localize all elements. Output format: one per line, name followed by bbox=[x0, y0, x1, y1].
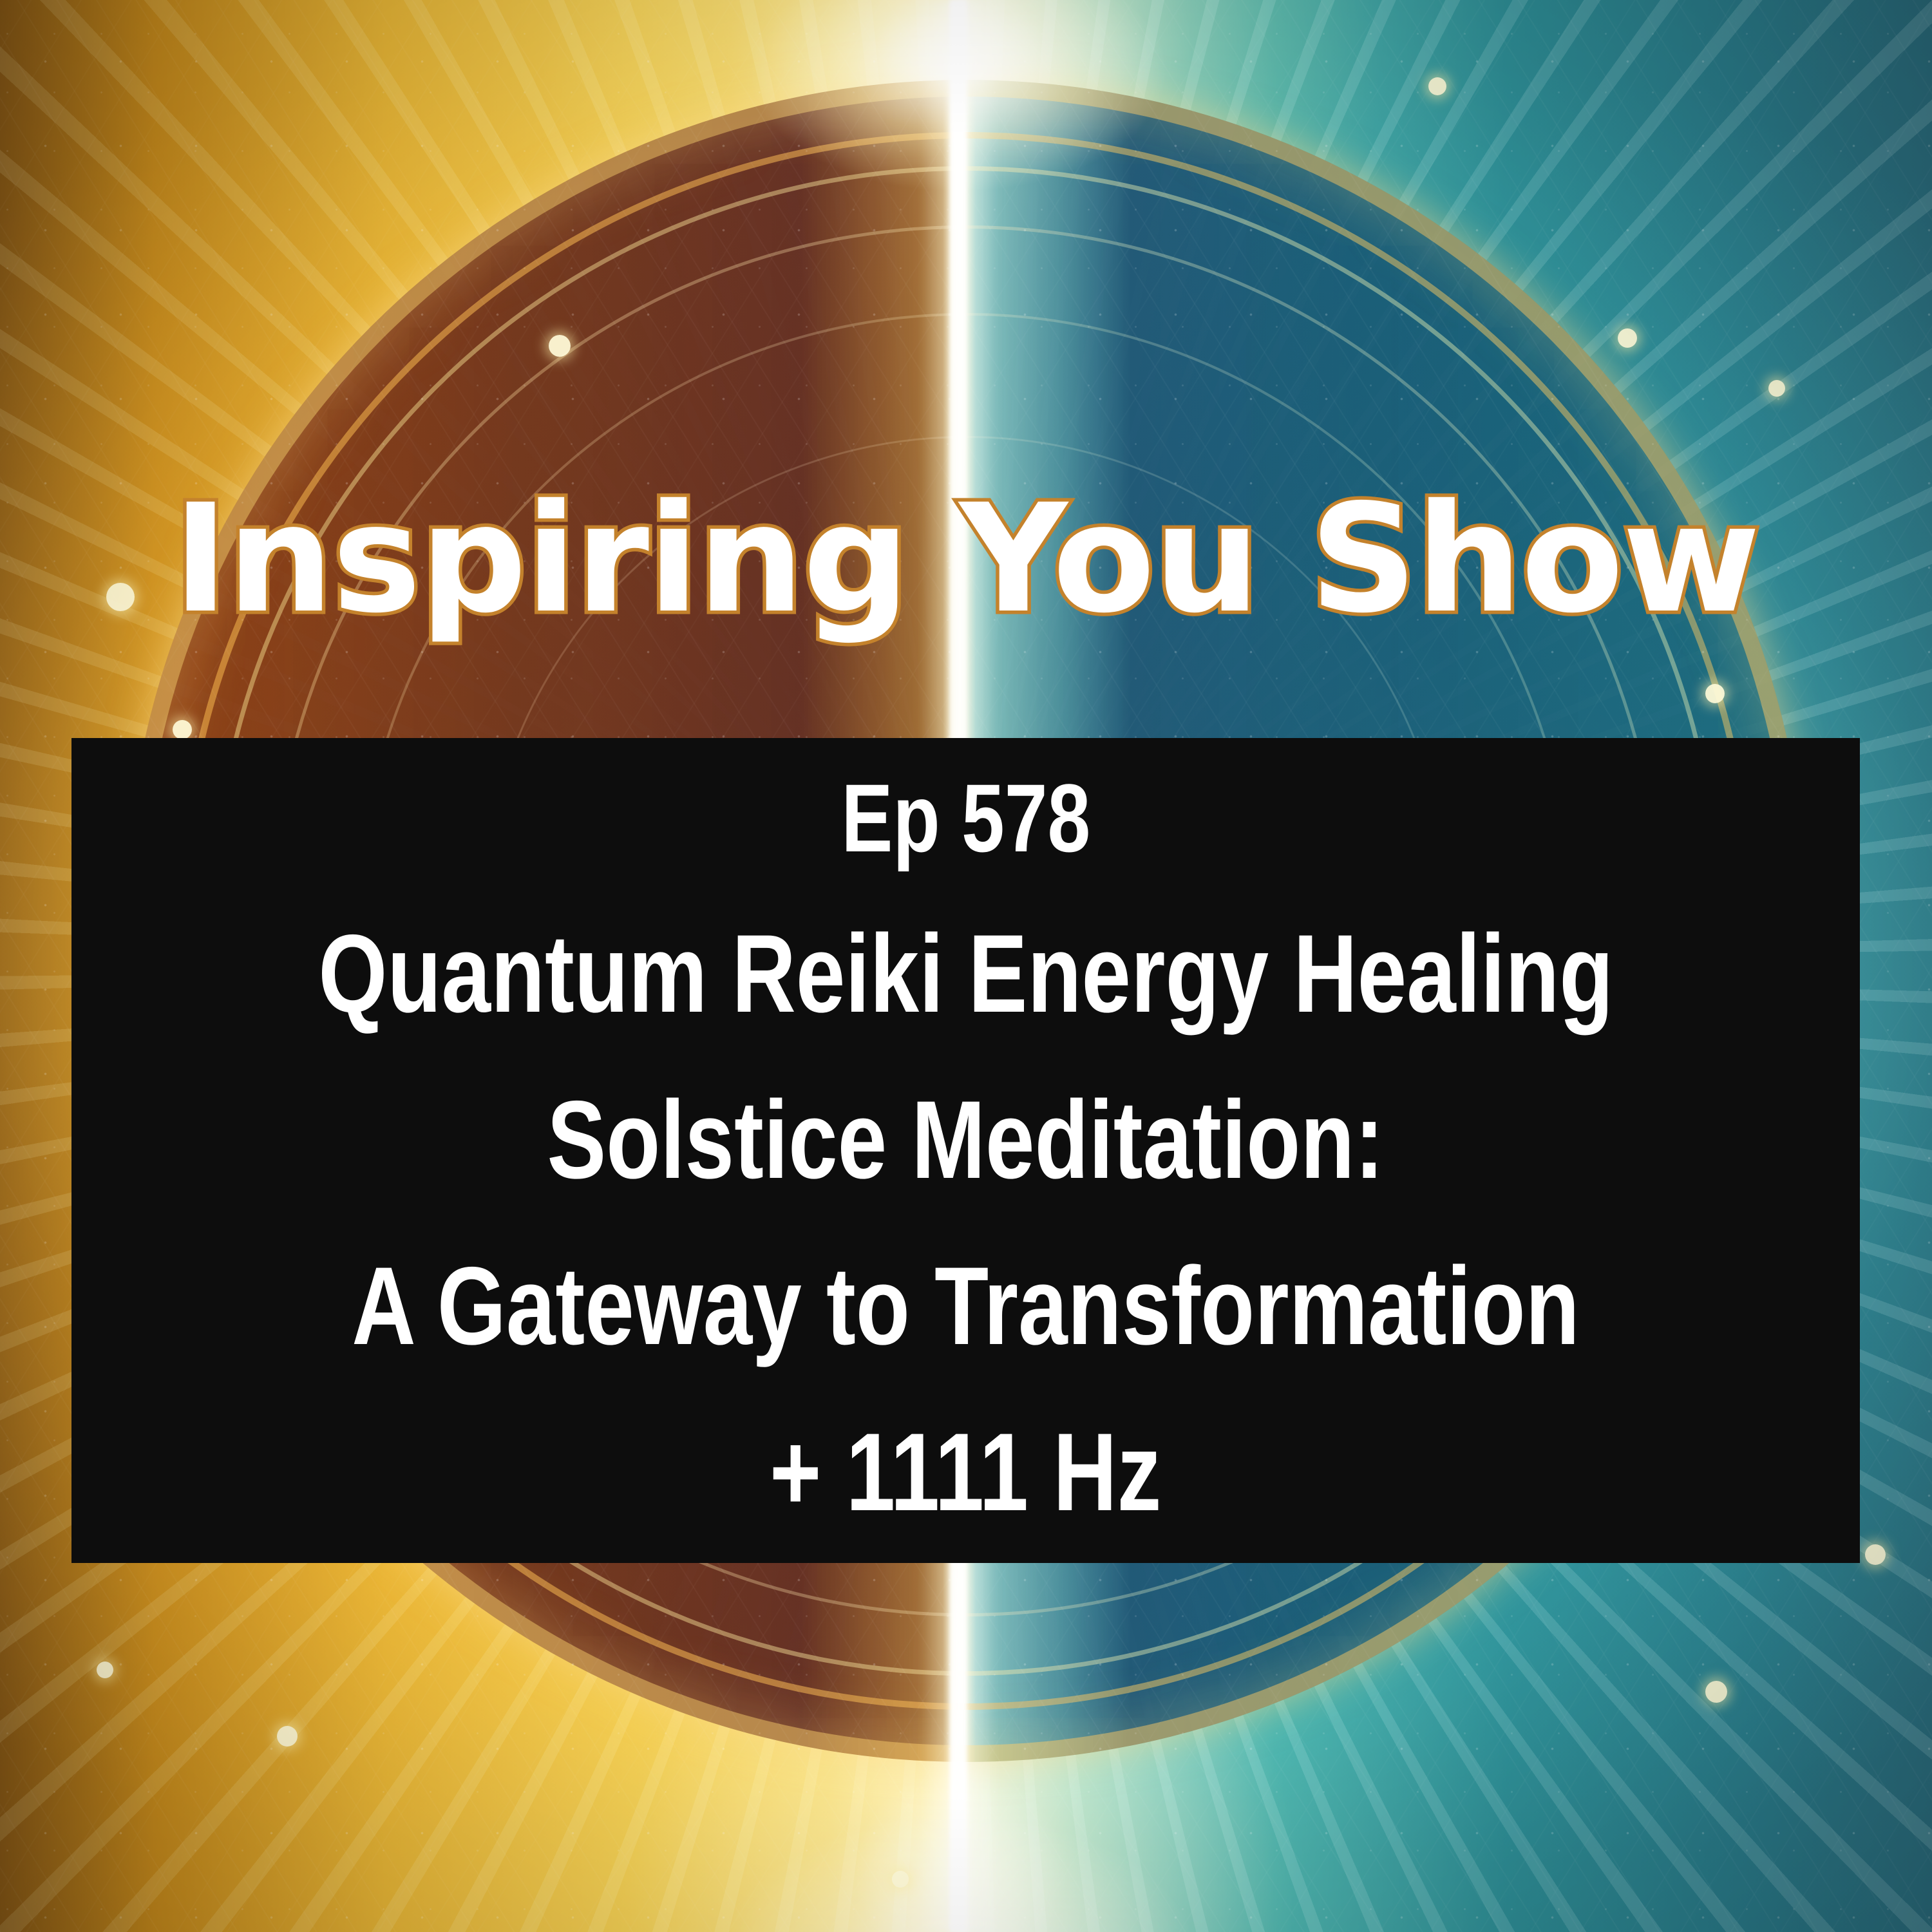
episode-tagline: A Gateway to Transformation bbox=[352, 1223, 1579, 1389]
episode-number: Ep 578 bbox=[841, 746, 1090, 891]
episode-subtitle: Solstice Meditation: bbox=[547, 1057, 1385, 1223]
show-title: Inspiring You Show bbox=[0, 484, 1932, 634]
episode-frequency: + 1111 Hz bbox=[770, 1389, 1161, 1555]
podcast-cover-art: Inspiring You Show Ep 578 Quantum Reiki … bbox=[0, 0, 1932, 1932]
episode-topic: Quantum Reiki Energy Healing bbox=[318, 891, 1613, 1057]
episode-info-panel: Ep 578 Quantum Reiki Energy Healing Sols… bbox=[71, 738, 1860, 1563]
